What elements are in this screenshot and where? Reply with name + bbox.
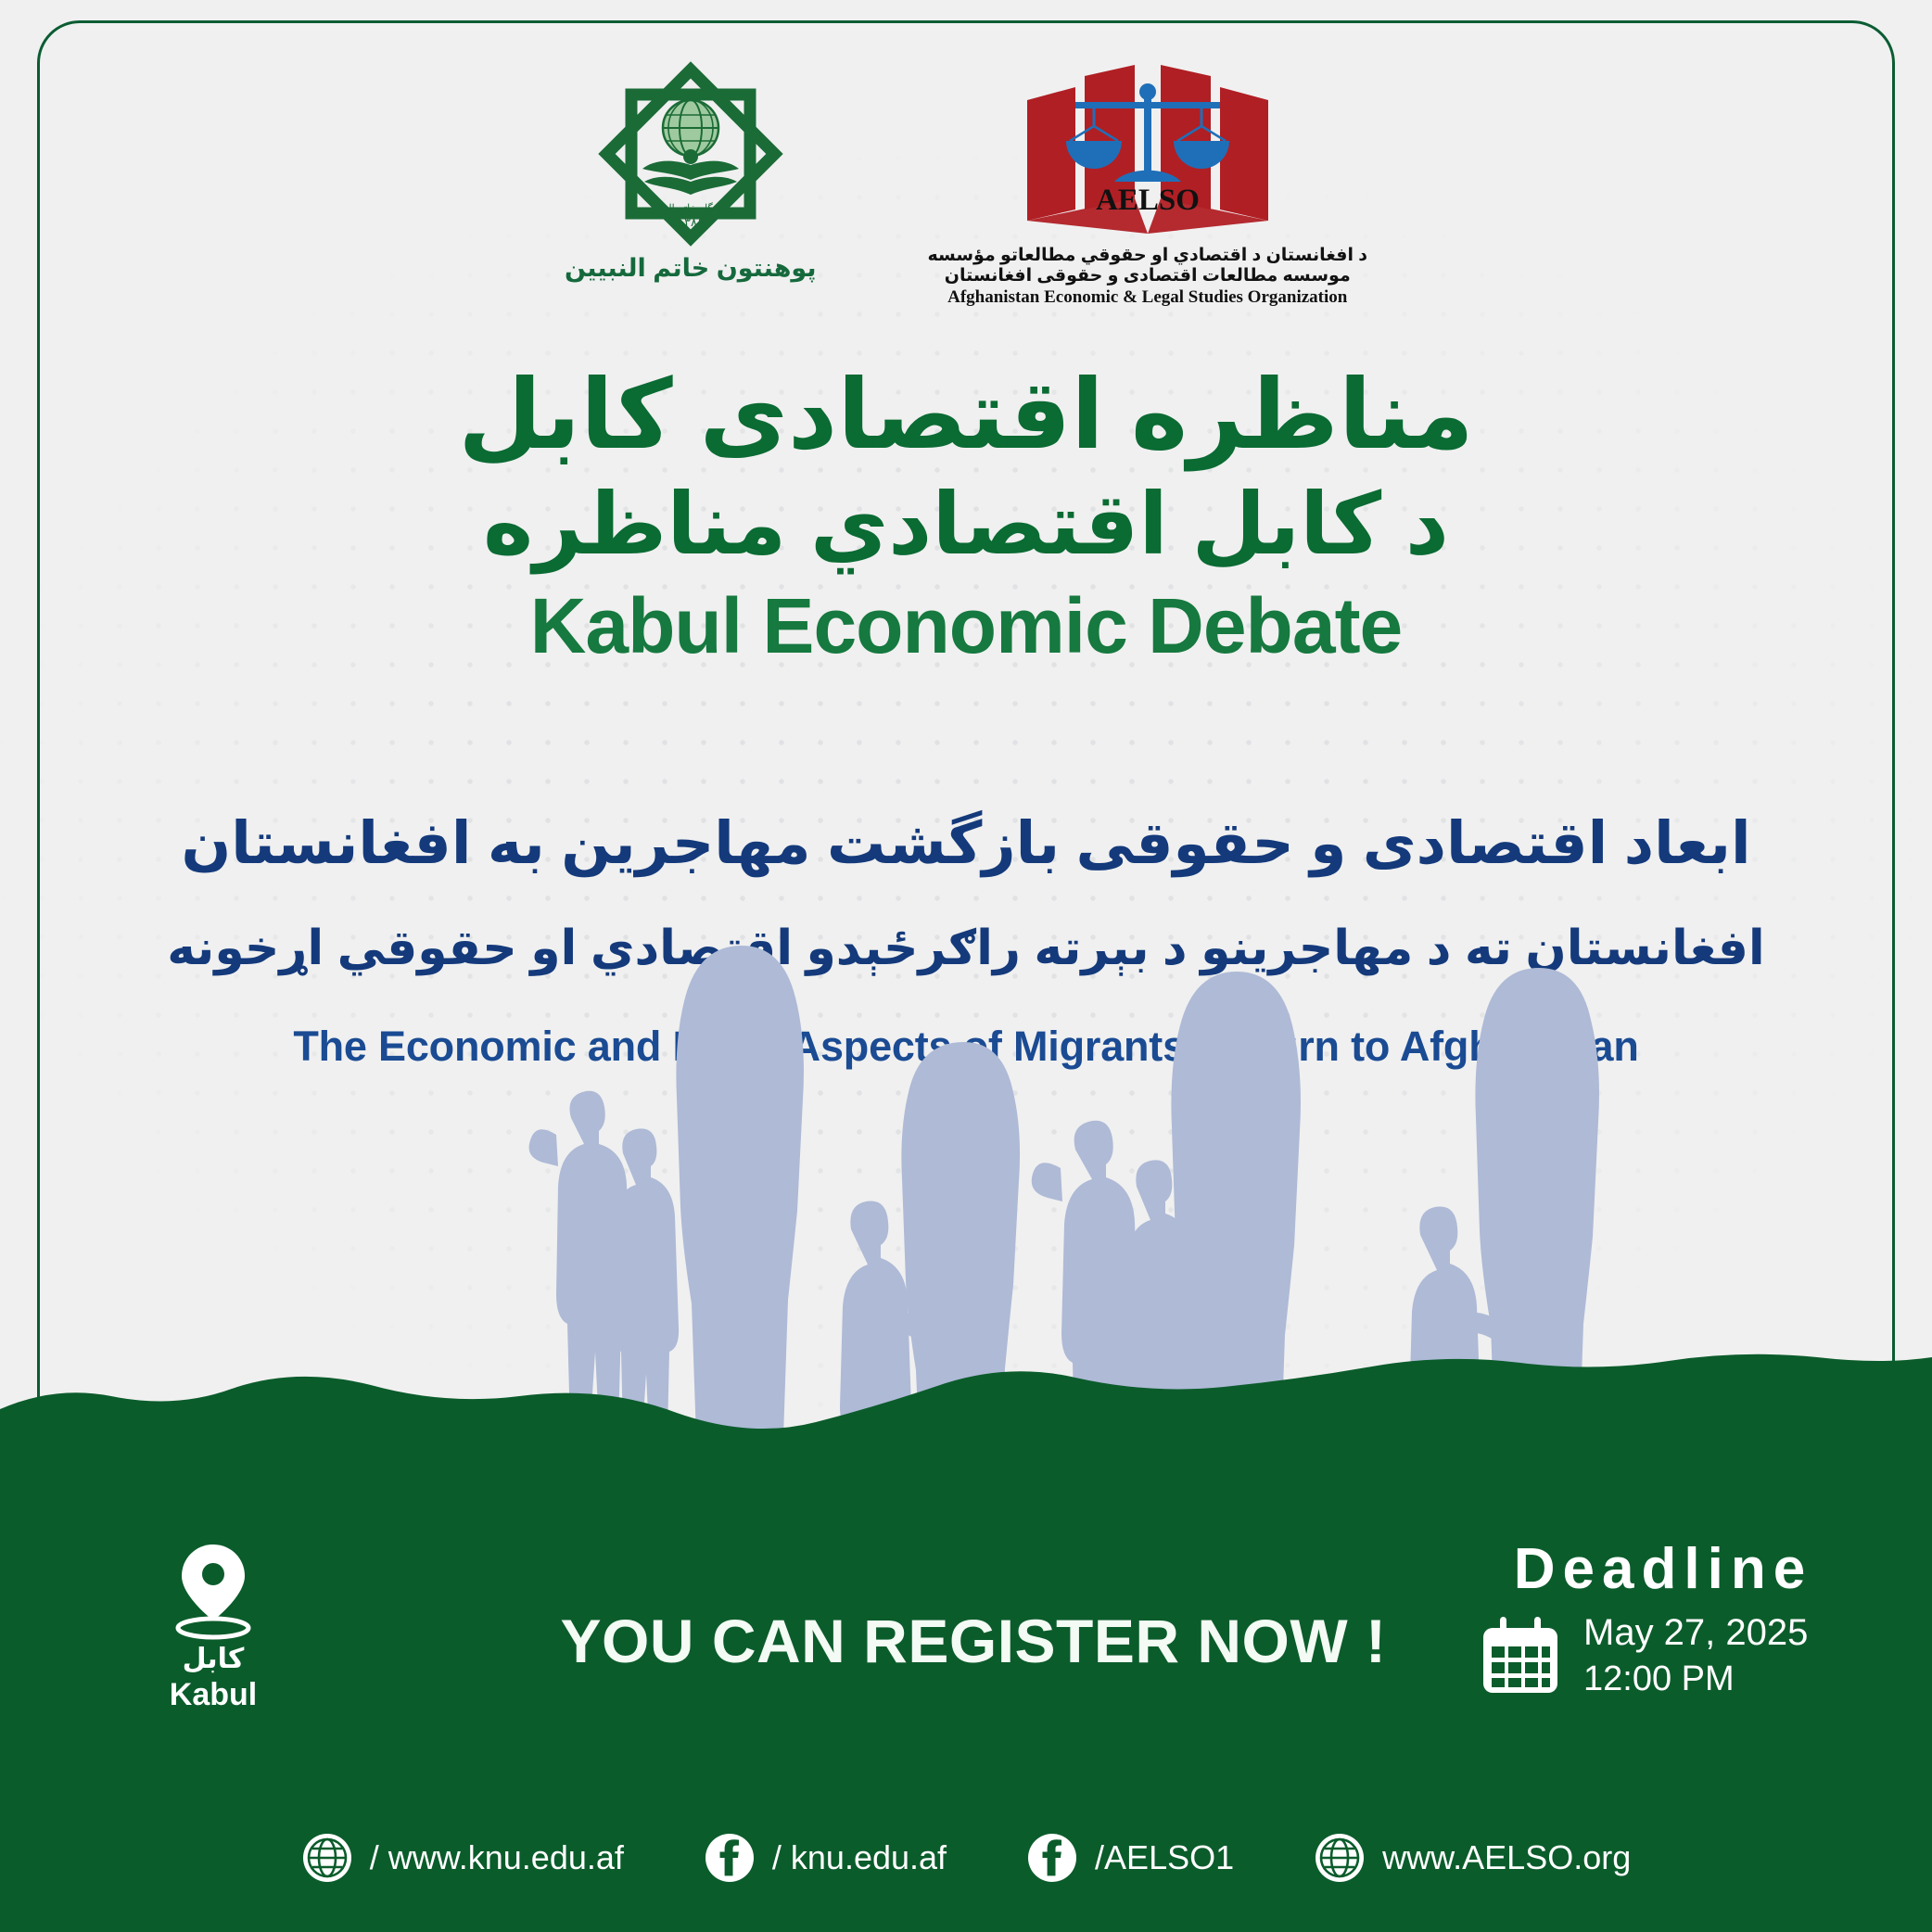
deadline-date: May 27, 2025	[1583, 1609, 1808, 1657]
globe-icon	[1314, 1832, 1366, 1884]
location-block: کابل Kabul	[83, 1543, 343, 1713]
link-aelso-website-label: www.AELSO.org	[1382, 1838, 1631, 1877]
deadline-block: Deadline May 27, 2025	[1468, 1536, 1858, 1702]
title-english: Kabul Economic Debate	[0, 581, 1932, 671]
aelso-logo: AELSO	[1018, 61, 1277, 242]
event-poster: دانشگاه خاتم النبیین ۱۳۸۶ پوهنتون خاتم ا…	[0, 0, 1932, 1932]
link-aelso-facebook-label: /AELSO1	[1095, 1838, 1234, 1877]
location-name-english: Kabul	[83, 1677, 343, 1713]
organizer-logos: دانشگاه خاتم النبیین ۱۳۸۶ پوهنتون خاتم ا…	[0, 61, 1932, 308]
knu-logo-inner-text: دانشگاه خاتم النبیین	[648, 202, 732, 214]
event-title-group: مناظره اقتصادی کابل د کابل اقتصادي مناظر…	[0, 362, 1932, 671]
deadline-time: 12:00 PM	[1583, 1657, 1808, 1702]
knu-globe-icon	[663, 93, 718, 156]
aelso-caption-dari: موسسه مطالعات اقتصادی و حقوقی افغانستان	[928, 266, 1368, 286]
link-knu-website-label: / www.knu.edu.af	[370, 1838, 624, 1877]
globe-icon	[301, 1832, 353, 1884]
aelso-caption: د افغانستان د اقتصادي او حقوقي مطالعاتو …	[928, 246, 1368, 308]
deadline-label: Deadline	[1468, 1536, 1858, 1602]
subtitle-english: The Economic and Legal Aspects of Migran…	[0, 1023, 1932, 1071]
aelso-caption-pashto: د افغانستان د اقتصادي او حقوقي مطالعاتو …	[928, 246, 1368, 266]
calendar-icon	[1478, 1613, 1563, 1698]
title-pashto: د کابل اقتصادي مناظره	[0, 475, 1932, 576]
subtitle-dari: ابعاد اقتصادی و حقوقی بازگشت مهاجرین به …	[0, 807, 1932, 883]
knu-caption: پوهنتون خاتم النبیین	[565, 254, 817, 283]
register-cta-text[interactable]: YOU CAN REGISTER NOW !	[482, 1606, 1465, 1676]
footer-green-band: کابل Kabul YOU CAN REGISTER NOW ! Deadli…	[0, 1450, 1932, 1932]
knu-logo: دانشگاه خاتم النبیین ۱۳۸۶	[598, 61, 783, 247]
link-knu-facebook[interactable]: / knu.edu.af	[704, 1832, 947, 1884]
knu-logo-block: دانشگاه خاتم النبیین ۱۳۸۶ پوهنتون خاتم ا…	[565, 61, 817, 283]
subtitle-pashto: افغانستان ته د مهاجرینو د بېرته راګرځېدو…	[0, 918, 1932, 981]
title-dari: مناظره اقتصادی کابل	[0, 362, 1932, 469]
link-knu-facebook-label: / knu.edu.af	[772, 1838, 947, 1877]
facebook-icon	[1026, 1832, 1078, 1884]
footer-links: / www.knu.edu.af / knu.edu.af /AELSO1	[0, 1832, 1932, 1884]
facebook-icon	[704, 1832, 756, 1884]
aelso-logo-block: AELSO د افغانستان د اقتصادي او حقوقي مطا…	[928, 61, 1368, 308]
event-subtitle-group: ابعاد اقتصادی و حقوقی بازگشت مهاجرین به …	[0, 807, 1932, 1071]
link-aelso-facebook[interactable]: /AELSO1	[1026, 1832, 1234, 1884]
knu-book-icon	[642, 149, 739, 195]
aelso-acronym: AELSO	[1096, 184, 1200, 217]
location-name-dari: کابل	[83, 1643, 343, 1675]
knu-logo-year: ۱۳۸۶	[678, 215, 704, 229]
link-knu-website[interactable]: / www.knu.edu.af	[301, 1832, 624, 1884]
location-pin-icon	[173, 1543, 253, 1641]
aelso-caption-english: Afghanistan Economic & Legal Studies Org…	[928, 287, 1368, 308]
link-aelso-website[interactable]: www.AELSO.org	[1314, 1832, 1631, 1884]
